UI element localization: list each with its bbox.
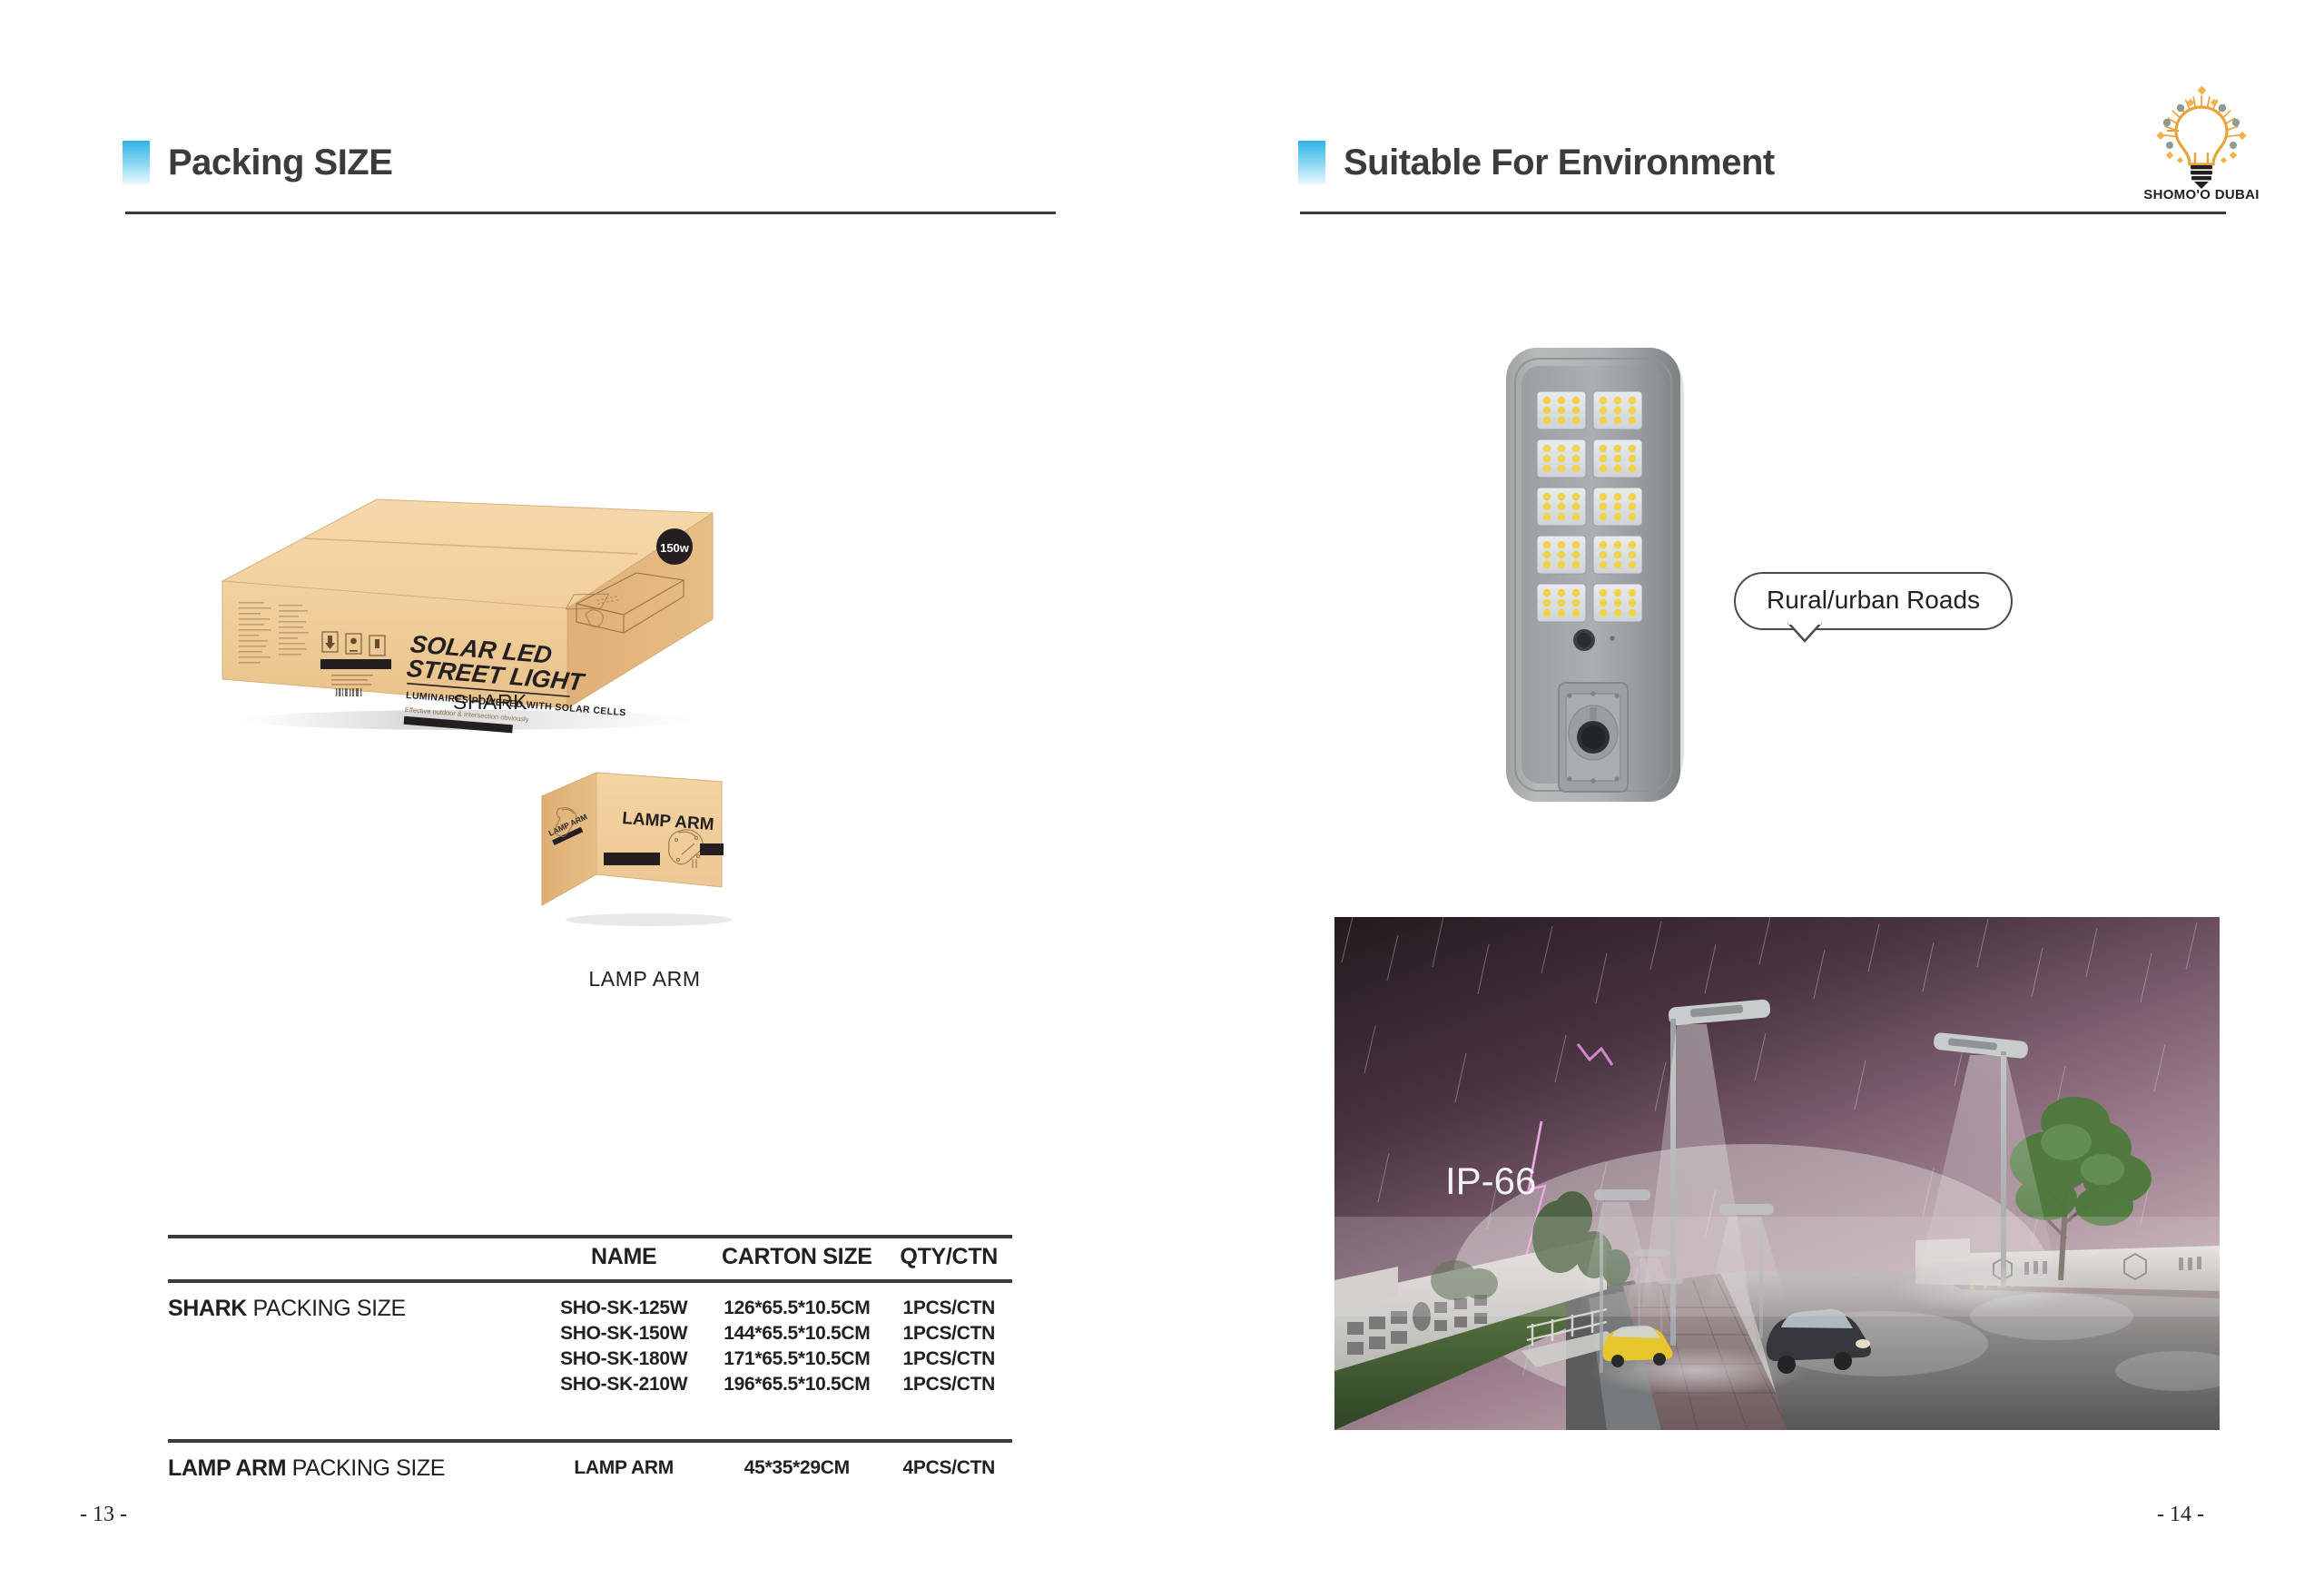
cell-qty: 1PCS/CTN	[885, 1321, 1012, 1346]
group-label-shark: SHARK PACKING SIZE	[168, 1296, 539, 1397]
lamp-arm-carton-image: LAMP ARM LAMP ARM	[531, 758, 758, 944]
col-name: NAME	[539, 1238, 708, 1279]
night-street-scene-image: IP-66	[1334, 917, 2220, 1430]
cell-carton-size: 196*65.5*10.5CM	[708, 1372, 885, 1397]
callout-label: Rural/urban Roads	[1734, 572, 2013, 630]
lamp-arm-caption: LAMP ARM	[545, 967, 744, 991]
wattage-badge: 150w	[656, 528, 693, 565]
table-header-rule	[168, 1279, 1012, 1283]
col-blank	[168, 1238, 539, 1279]
packing-size-heading: Packing SIZE	[123, 141, 392, 184]
page-number-right: - 14 -	[2157, 1503, 2204, 1527]
heading-marker-icon	[123, 141, 150, 184]
shark-caption: SHARK	[418, 690, 563, 715]
cell-name: LAMP ARM	[539, 1455, 708, 1482]
cell-carton-size: 126*65.5*10.5CM	[708, 1296, 885, 1321]
cell-name: SHO-SK-210W	[539, 1372, 708, 1397]
environment-callout: Rural/urban Roads	[1734, 572, 2013, 630]
col-carton-size: CARTON SIZE	[708, 1238, 885, 1279]
cell-qty: 1PCS/CTN	[885, 1372, 1012, 1397]
cell-name: SHO-SK-125W	[539, 1296, 708, 1321]
heading-marker-icon	[1298, 141, 1325, 184]
left-page: Packing SIZE	[0, 0, 1162, 1588]
cell-qty: 4PCS/CTN	[885, 1455, 1012, 1482]
heading-divider	[125, 212, 1056, 214]
table-row: LAMP ARM PACKING SIZE LAMP ARM 45*35*29C…	[168, 1455, 1012, 1482]
packing-size-table: NAME CARTON SIZE QTY/CTN SHARK PACKING S…	[168, 1235, 1012, 1482]
cell-qty: 1PCS/CTN	[885, 1346, 1012, 1372]
cell-name: SHO-SK-180W	[539, 1346, 708, 1372]
table-header-row: NAME CARTON SIZE QTY/CTN	[168, 1238, 1012, 1279]
lightbulb-icon	[2115, 80, 2288, 189]
page-title: Packing SIZE	[168, 143, 392, 183]
callout-pointer-icon	[1787, 623, 1823, 643]
page-number-left: - 13 -	[80, 1503, 127, 1527]
brand-name: SHOMO'O DUBAI	[2115, 187, 2288, 202]
col-qty: QTY/CTN	[885, 1238, 1012, 1279]
page-title: Suitable For Environment	[1344, 143, 1775, 183]
cell-carton-size: 144*65.5*10.5CM	[708, 1321, 885, 1346]
cell-qty: 1PCS/CTN	[885, 1296, 1012, 1321]
table-row: SHARK PACKING SIZE SHO-SK-125W SHO-SK-15…	[168, 1296, 1012, 1397]
cell-carton-size: 45*35*29CM	[708, 1455, 885, 1482]
cell-name: SHO-SK-150W	[539, 1321, 708, 1346]
svg-text:150w: 150w	[660, 541, 690, 555]
ip-rating-label: IP-66	[1445, 1159, 1536, 1202]
table-group-rule	[168, 1439, 1012, 1443]
group-label-lamp-arm: LAMP ARM PACKING SIZE	[168, 1455, 539, 1482]
suitable-for-environment-heading: Suitable For Environment	[1298, 141, 1775, 184]
heading-divider	[1300, 212, 2226, 214]
street-light-product-image	[1493, 340, 1748, 822]
mounting-bracket	[1559, 683, 1628, 792]
brand-logo: SHOMO'O DUBAI	[2115, 80, 2288, 216]
cell-carton-size: 171*65.5*10.5CM	[708, 1346, 885, 1372]
